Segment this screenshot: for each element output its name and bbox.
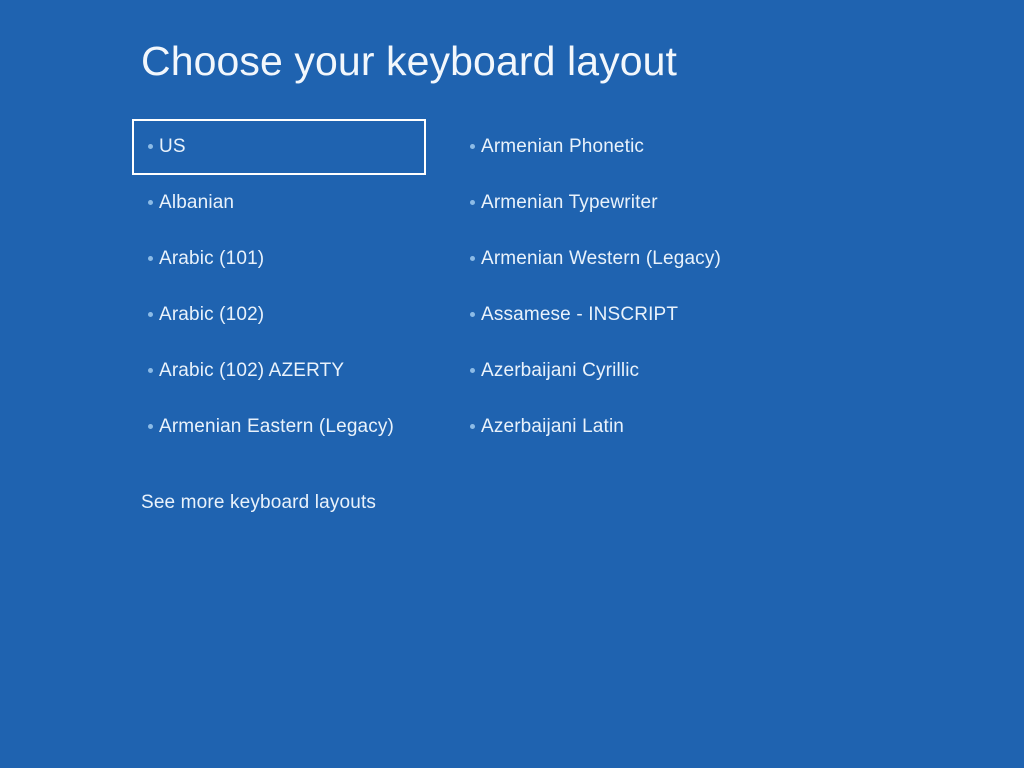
bullet-icon — [470, 200, 475, 205]
bullet-icon — [148, 424, 153, 429]
keyboard-layout-item[interactable]: Armenian Eastern (Legacy) — [132, 399, 426, 455]
keyboard-layout-item-label: Armenian Eastern (Legacy) — [159, 416, 394, 438]
keyboard-layout-item[interactable]: Azerbaijani Latin — [462, 399, 792, 455]
keyboard-layout-item[interactable]: US — [132, 119, 426, 175]
keyboard-layout-item-label: Assamese - INSCRIPT — [481, 304, 678, 326]
bullet-icon — [470, 256, 475, 261]
keyboard-layout-item[interactable]: Arabic (102) — [132, 287, 426, 343]
keyboard-layout-column-right: Armenian PhoneticArmenian TypewriterArme… — [462, 119, 792, 455]
keyboard-layout-item-label: Azerbaijani Cyrillic — [481, 360, 639, 382]
keyboard-layout-item-label: Albanian — [159, 192, 234, 214]
keyboard-layout-item-label: US — [159, 136, 186, 158]
keyboard-layout-screen: Choose your keyboard layout USAlbanianAr… — [0, 0, 1024, 768]
bullet-icon — [470, 144, 475, 149]
keyboard-layout-item[interactable]: Albanian — [132, 175, 426, 231]
bullet-icon — [148, 144, 153, 149]
keyboard-layout-item-label: Armenian Western (Legacy) — [481, 248, 721, 270]
keyboard-layout-item[interactable]: Armenian Phonetic — [462, 119, 792, 175]
bullet-icon — [470, 424, 475, 429]
keyboard-layout-item[interactable]: Arabic (101) — [132, 231, 426, 287]
keyboard-layout-item-label: Arabic (102) — [159, 304, 264, 326]
keyboard-layout-item[interactable]: Arabic (102) AZERTY — [132, 343, 426, 399]
keyboard-layout-item[interactable]: Armenian Western (Legacy) — [462, 231, 792, 287]
bullet-icon — [148, 368, 153, 373]
keyboard-layout-item-label: Armenian Phonetic — [481, 136, 644, 158]
keyboard-layout-column-left: USAlbanianArabic (101)Arabic (102)Arabic… — [132, 119, 432, 455]
bullet-icon — [148, 312, 153, 317]
bullet-icon — [148, 256, 153, 261]
keyboard-layout-item-label: Arabic (102) AZERTY — [159, 360, 344, 382]
keyboard-layout-item[interactable]: Assamese - INSCRIPT — [462, 287, 792, 343]
keyboard-layout-item-label: Arabic (101) — [159, 248, 264, 270]
bullet-icon — [470, 312, 475, 317]
keyboard-layout-item[interactable]: Azerbaijani Cyrillic — [462, 343, 792, 399]
bullet-icon — [148, 200, 153, 205]
keyboard-layout-item[interactable]: Armenian Typewriter — [462, 175, 792, 231]
see-more-keyboard-layouts-link[interactable]: See more keyboard layouts — [141, 492, 376, 514]
keyboard-layout-item-label: Azerbaijani Latin — [481, 416, 624, 438]
bullet-icon — [470, 368, 475, 373]
page-title: Choose your keyboard layout — [141, 38, 677, 86]
keyboard-layout-item-label: Armenian Typewriter — [481, 192, 658, 214]
